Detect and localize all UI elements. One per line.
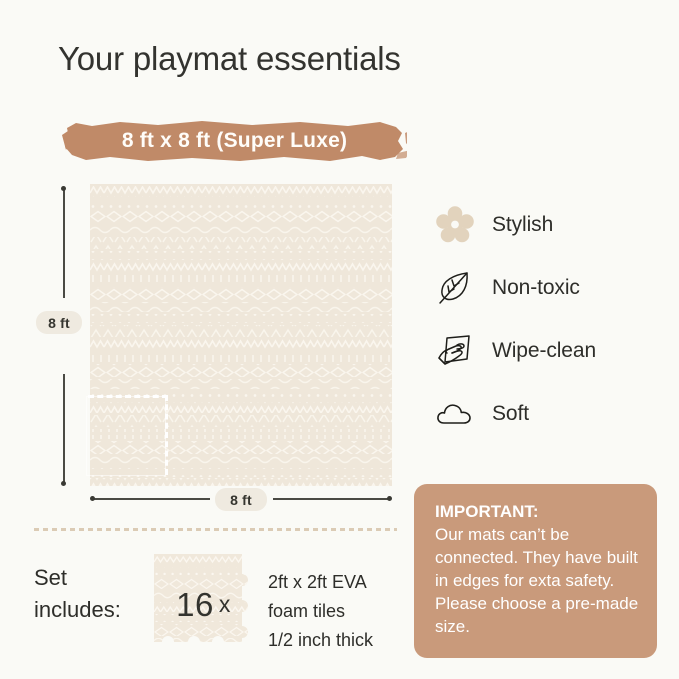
tile-swatch: 16 x (154, 554, 255, 655)
tile-count-suffix: x (219, 591, 231, 618)
tile-desc-line2: foam tiles (268, 597, 373, 626)
tile-count-number: 16 (176, 586, 214, 624)
height-dimension-line (57, 186, 71, 486)
tile-desc-line3: 1/2 inch thick (268, 626, 373, 655)
infographic-page: Your playmat essentials 8 ft x 8 ft (Sup… (0, 0, 679, 679)
important-callout: IMPORTANT: Our mats can’t be connected. … (414, 484, 657, 658)
feature-label: Non-toxic (492, 276, 580, 300)
important-body: Our mats can’t be connected. They have b… (435, 524, 639, 639)
feature-label: Stylish (492, 213, 553, 237)
tile-description: 2ft x 2ft EVA foam tiles 1/2 inch thick (268, 568, 373, 655)
set-includes-line1: Set (34, 562, 121, 594)
tile-count: 16 x (154, 554, 255, 655)
flower-icon (432, 202, 478, 248)
size-banner: 8 ft x 8 ft (Super Luxe) (62, 119, 407, 163)
width-dimension-label: 8 ft (215, 488, 267, 511)
page-title: Your playmat essentials (58, 40, 401, 78)
tile-desc-line1: 2ft x 2ft EVA (268, 568, 373, 597)
set-includes-label: Set includes: (34, 562, 121, 626)
feature-item-wipe-clean: Wipe-clean (432, 319, 662, 382)
important-heading: IMPORTANT: (435, 501, 639, 524)
feature-list: Stylish Non-toxic (432, 193, 662, 445)
height-dimension-label: 8 ft (36, 311, 82, 334)
feature-item-soft: Soft (432, 382, 662, 445)
feature-label: Soft (492, 402, 529, 426)
feature-item-non-toxic: Non-toxic (432, 256, 662, 319)
section-divider (34, 528, 397, 531)
feature-item-stylish: Stylish (432, 193, 662, 256)
leaf-icon (432, 265, 478, 311)
feature-label: Wipe-clean (492, 339, 596, 363)
highlighted-tile-outline (88, 395, 168, 475)
wipe-cloth-icon (432, 328, 478, 374)
size-banner-label: 8 ft x 8 ft (Super Luxe) (62, 119, 407, 163)
cloud-icon (432, 391, 478, 437)
set-includes-line2: includes: (34, 594, 121, 626)
